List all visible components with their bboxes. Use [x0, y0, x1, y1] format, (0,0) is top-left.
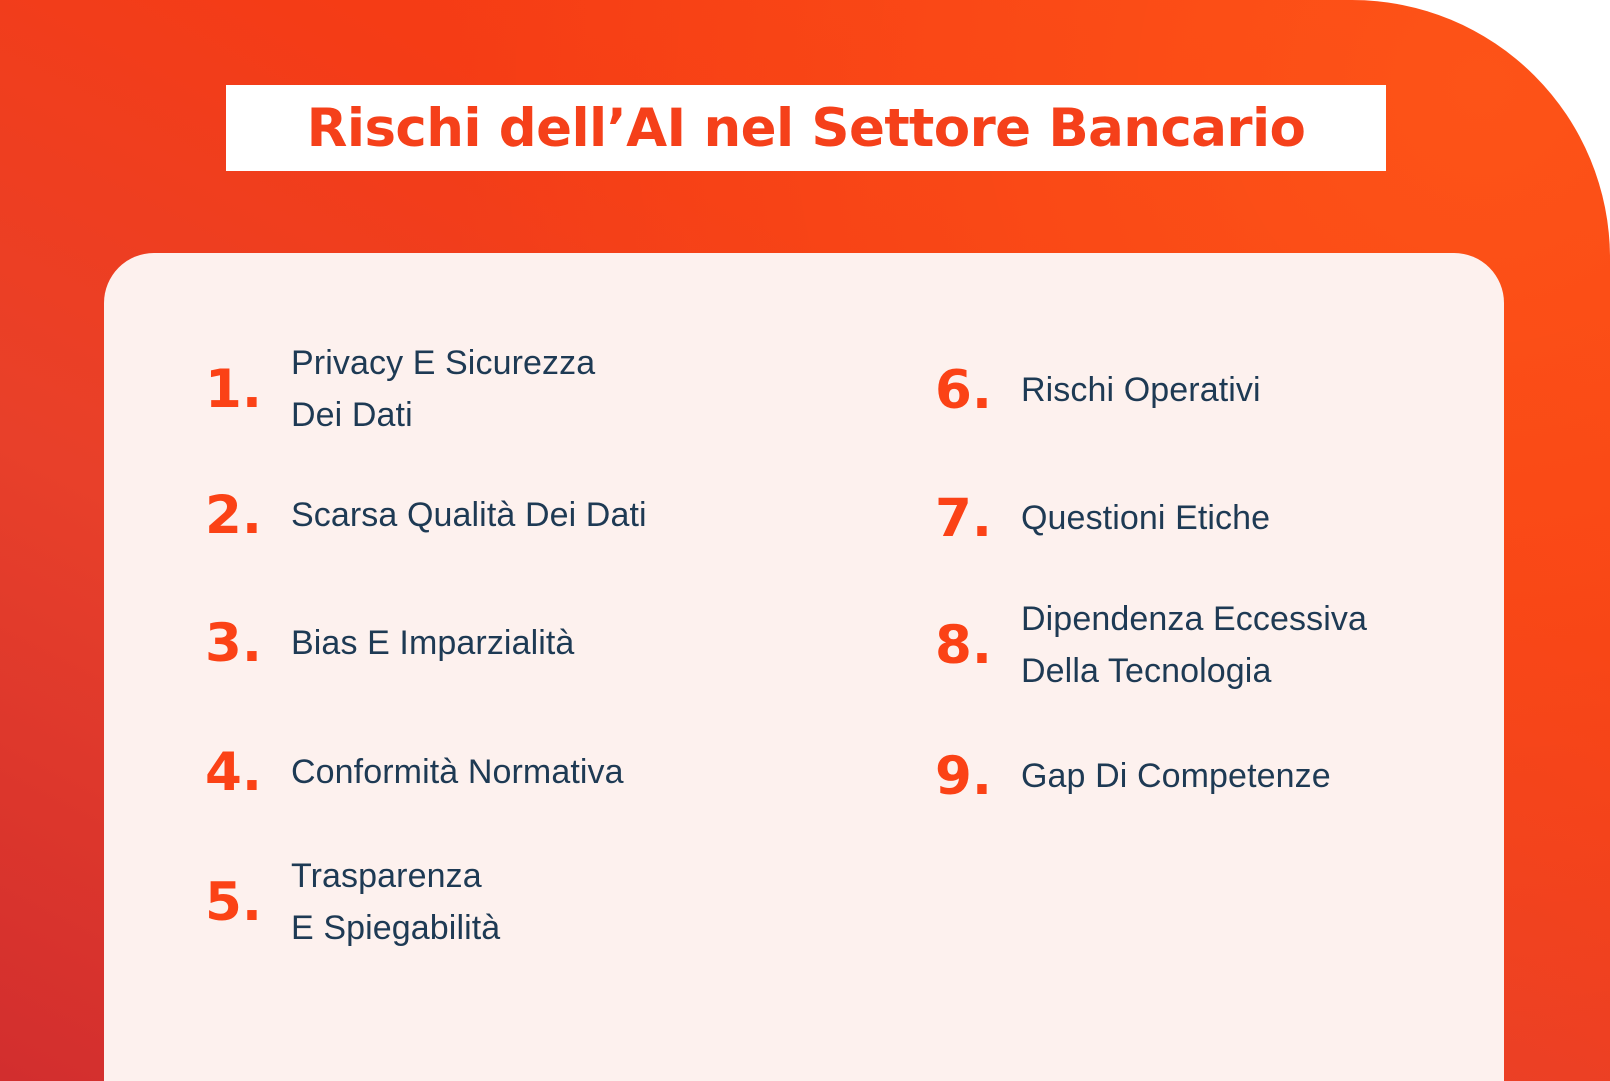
list-item-label: Questioni Etiche	[1021, 493, 1270, 545]
list-item[interactable]: 2. Scarsa Qualità Dei Dati	[205, 489, 647, 542]
list-item-label: Conformità Normativa	[291, 747, 624, 799]
list-item-number: 3.	[205, 617, 291, 670]
list-item-label: Privacy E Sicurezza Dei Dati	[291, 338, 595, 441]
risk-list: 1. Privacy E Sicurezza Dei Dati 2. Scars…	[104, 253, 1504, 1081]
list-item-label: Dipendenza Eccessiva Della Tecnologia	[1021, 594, 1367, 697]
list-item[interactable]: 3. Bias E Imparzialità	[205, 617, 574, 670]
list-item[interactable]: 9. Gap Di Competenze	[935, 750, 1331, 803]
list-item-label: Trasparenza E Spiegabilità	[291, 851, 500, 954]
list-item-number: 9.	[935, 750, 1021, 803]
page-title: Rischi dell’AI nel Settore Bancario	[307, 102, 1306, 155]
list-item-number: 6.	[935, 364, 1021, 417]
infographic-slide: Rischi dell’AI nel Settore Bancario 1. P…	[0, 0, 1610, 1081]
list-item-number: 5.	[205, 876, 291, 929]
list-item-label: Bias E Imparzialità	[291, 618, 574, 670]
list-item[interactable]: 6. Rischi Operativi	[935, 364, 1261, 417]
list-item-number: 4.	[205, 746, 291, 799]
list-item-number: 8.	[935, 619, 1021, 672]
list-item[interactable]: 5. Trasparenza E Spiegabilità	[205, 851, 500, 954]
list-item[interactable]: 4. Conformità Normativa	[205, 746, 624, 799]
list-item-number: 2.	[205, 489, 291, 542]
list-item[interactable]: 7. Questioni Etiche	[935, 492, 1270, 545]
list-item-number: 1.	[205, 363, 291, 416]
list-item-label: Scarsa Qualità Dei Dati	[291, 490, 647, 542]
list-item[interactable]: 8. Dipendenza Eccessiva Della Tecnologia	[935, 594, 1367, 697]
list-item-label: Rischi Operativi	[1021, 365, 1261, 417]
list-item[interactable]: 1. Privacy E Sicurezza Dei Dati	[205, 338, 595, 441]
list-item-label: Gap Di Competenze	[1021, 751, 1331, 803]
list-item-number: 7.	[935, 492, 1021, 545]
title-banner: Rischi dell’AI nel Settore Bancario	[226, 85, 1386, 171]
